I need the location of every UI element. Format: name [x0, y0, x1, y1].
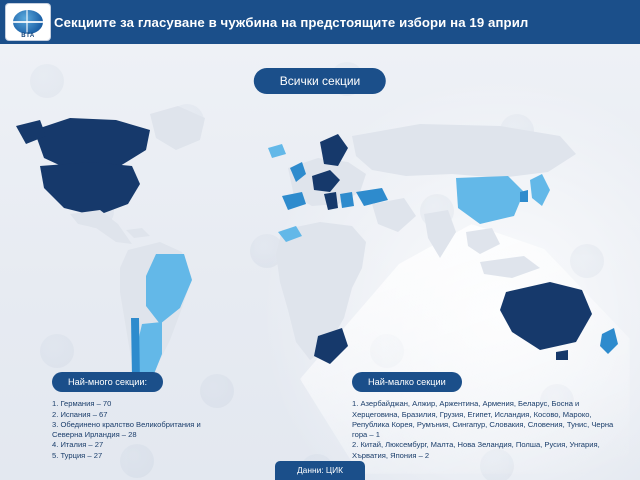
map-stage: Всички секции — [0, 44, 640, 480]
legend-most-caption: Най-много секции: — [52, 372, 163, 392]
legend-least-item: 1. Азербайджан, Алжир, Аржентина, Армени… — [352, 399, 614, 440]
legend-most-item: 1. Германия – 70 — [52, 399, 282, 409]
legend-most-item: 2. Испания – 67 — [52, 410, 282, 420]
legend-most-item: 5. Турция – 27 — [52, 451, 282, 461]
page-title: Секциите за гласуване в чужбина на предс… — [54, 15, 528, 30]
infographic-root: BTA Секциите за гласуване в чужбина на п… — [0, 0, 640, 480]
logo-text: BTA — [6, 33, 50, 39]
legend-most-sections: Най-много секции: 1. Германия – 70 2. Ис… — [52, 372, 282, 461]
legend-least-caption: Най-малко секции — [352, 372, 462, 392]
legend-most-item: 4. Италия – 27 — [52, 440, 282, 450]
map-landmasses — [16, 106, 618, 388]
legend-least-item: 2. Китай, Люксембург, Малта, Нова Зеланд… — [352, 440, 614, 461]
header-bar: BTA Секциите за гласуване в чужбина на п… — [0, 0, 640, 44]
legend-least-sections: Най-малко секции 1. Азербайджан, Алжир, … — [352, 372, 614, 461]
source-note: Данни: ЦИК — [275, 461, 365, 480]
globe-icon — [13, 10, 43, 34]
all-sections-badge: Всички секции — [254, 68, 386, 94]
legend-most-item: 3. Обединено кралство Великобритания и — [52, 420, 282, 430]
world-map — [0, 92, 640, 412]
bta-logo: BTA — [6, 4, 50, 40]
legend-most-item: Северна Ирландия – 28 — [52, 430, 282, 440]
